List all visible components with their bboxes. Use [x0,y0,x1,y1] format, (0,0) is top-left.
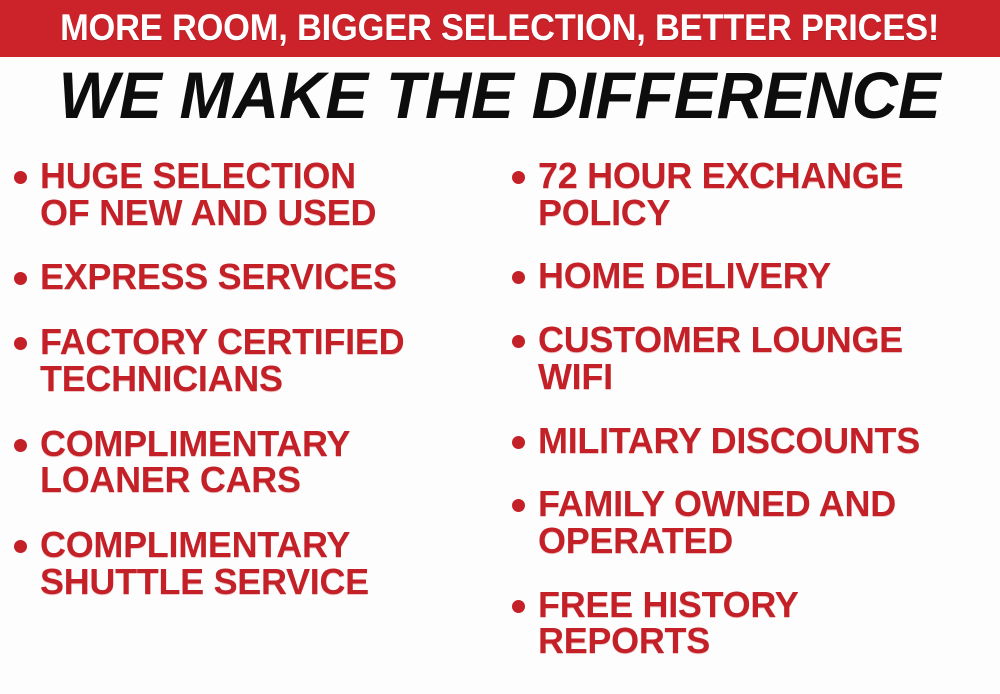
benefit-item-label: COMPLIMENTARY LOANER CARS [40,426,350,499]
bullet-dot-icon [14,540,27,553]
bullet-dot-icon [14,337,27,350]
benefit-item-label: COMPLIMENTARY SHUTTLE SERVICE [40,527,369,600]
top-banner: MORE ROOM, BIGGER SELECTION, BETTER PRIC… [0,0,1000,57]
bullet-dot-icon [512,171,525,184]
bullet-dot-icon [512,335,525,348]
bullet-dot-icon [14,272,27,285]
benefit-item-label: HOME DELIVERY [538,258,831,295]
main-headline: WE MAKE THE DIFFERENCE [0,62,1000,128]
benefit-item: 72 HOUR EXCHANGE POLICY [512,158,1000,231]
benefit-item: HUGE SELECTION OF NEW AND USED [14,158,504,231]
bullet-dot-icon [14,171,27,184]
benefit-item: MILITARY DISCOUNTS [512,423,1000,460]
main-headline-text: WE MAKE THE DIFFERENCE [59,62,941,128]
benefit-item: FREE HISTORY REPORTS [512,587,1000,660]
benefits-columns: HUGE SELECTION OF NEW AND USEDEXPRESS SE… [0,158,1000,694]
bullet-dot-icon [512,271,525,284]
benefits-column-left: HUGE SELECTION OF NEW AND USEDEXPRESS SE… [14,158,504,628]
bullet-dot-icon [512,436,525,449]
benefit-item-label: MILITARY DISCOUNTS [538,423,920,460]
bullet-dot-icon [14,439,27,452]
benefit-item-label: FACTORY CERTIFIED TECHNICIANS [40,324,404,397]
benefit-item-label: 72 HOUR EXCHANGE POLICY [538,158,903,231]
benefit-item: CUSTOMER LOUNGE WIFI [512,322,1000,395]
benefit-item-label: FREE HISTORY REPORTS [538,587,798,660]
banner-headline-text: MORE ROOM, BIGGER SELECTION, BETTER PRIC… [60,9,939,48]
benefit-item: COMPLIMENTARY SHUTTLE SERVICE [14,527,504,600]
benefit-item: FACTORY CERTIFIED TECHNICIANS [14,324,504,397]
benefit-item: EXPRESS SERVICES [14,259,504,296]
benefit-item-label: HUGE SELECTION OF NEW AND USED [40,158,376,231]
benefit-item: COMPLIMENTARY LOANER CARS [14,426,504,499]
promotional-poster: MORE ROOM, BIGGER SELECTION, BETTER PRIC… [0,0,1000,694]
benefits-column-right: 72 HOUR EXCHANGE POLICYHOME DELIVERYCUST… [512,158,1000,687]
bullet-dot-icon [512,600,525,613]
bullet-dot-icon [512,499,525,512]
benefit-item: FAMILY OWNED AND OPERATED [512,486,1000,559]
benefit-item-label: EXPRESS SERVICES [40,259,397,296]
benefit-item: HOME DELIVERY [512,258,1000,295]
benefit-item-label: CUSTOMER LOUNGE WIFI [538,322,903,395]
benefit-item-label: FAMILY OWNED AND OPERATED [538,486,896,559]
